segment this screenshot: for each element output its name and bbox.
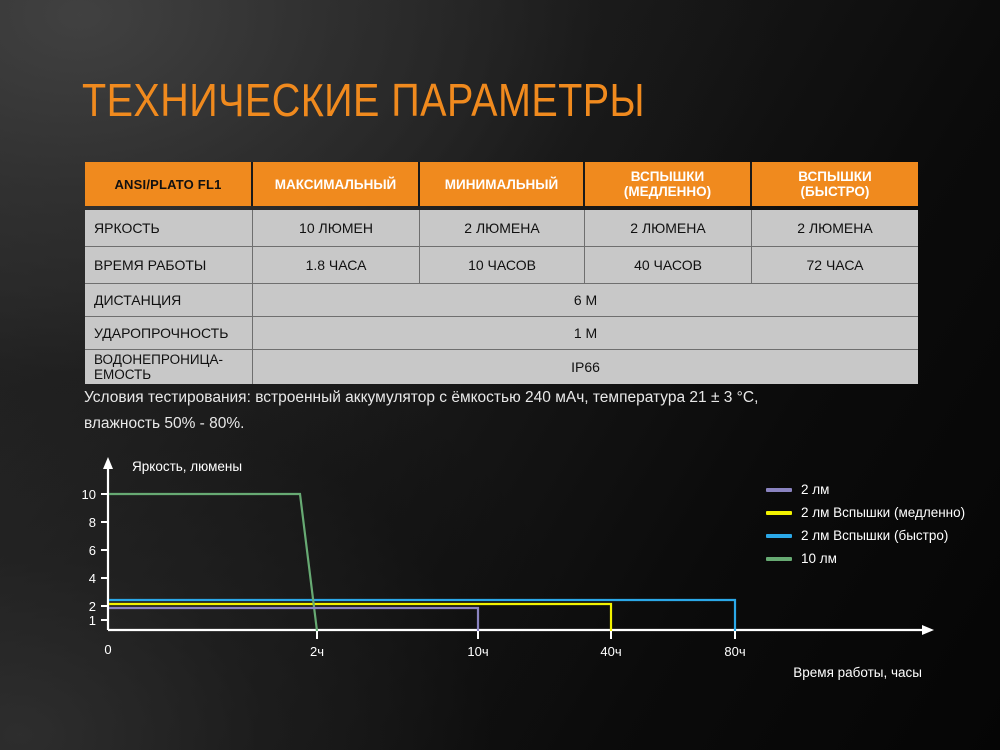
row-value: 72 ЧАСА <box>752 247 918 283</box>
y-tick-label: 6 <box>89 543 96 558</box>
table-row: УДАРОПРОЧНОСТЬ 1 М <box>85 317 918 350</box>
y-tick-label: 4 <box>89 571 96 586</box>
row-value: 2 ЛЮМЕНА <box>420 210 585 246</box>
y-tick-label: 2 <box>89 599 96 614</box>
y-tick-label: 10 <box>82 487 96 502</box>
y-tick-label: 1 <box>89 613 96 628</box>
legend-swatch-icon <box>766 534 792 538</box>
x-tick-label: 80ч <box>724 644 745 659</box>
row-merged-value: IP66 <box>253 350 918 384</box>
legend-swatch-icon <box>766 488 792 492</box>
series-line-10lm <box>109 494 317 631</box>
table-row: ДИСТАНЦИЯ 6 М <box>85 284 918 317</box>
row-label-line2: ЕМОСТЬ <box>94 367 223 382</box>
table-row: ВРЕМЯ РАБОТЫ 1.8 ЧАСА 10 ЧАСОВ 40 ЧАСОВ … <box>85 247 918 284</box>
chart-legend: 2 лм 2 лм Вспышки (медленно) 2 лм Вспышк… <box>766 478 991 570</box>
row-label: ВОДОНЕПРОНИЦА- ЕМОСТЬ <box>85 350 253 384</box>
page-title: ТЕХНИЧЕСКИЕ ПАРАМЕТРЫ <box>82 74 645 126</box>
table-row: ЯРКОСТЬ 10 ЛЮМЕН 2 ЛЮМЕНА 2 ЛЮМЕНА 2 ЛЮМ… <box>85 210 918 247</box>
table-header-label-line1: ВСПЫШКИ <box>798 169 871 184</box>
table-header-cell-min: МИНИМАЛЬНЫЙ <box>420 162 585 206</box>
y-tick-label: 8 <box>89 515 96 530</box>
table-header-label-line2: (БЫСТРО) <box>798 184 871 199</box>
series-line-2lm <box>109 608 478 631</box>
x-tick-label: 0 <box>104 642 111 657</box>
spec-table: ANSI/PLATO FL1 МАКСИМАЛЬНЫЙ МИНИМАЛЬНЫЙ … <box>85 162 918 384</box>
legend-swatch-icon <box>766 511 792 515</box>
row-value: 10 ЛЮМЕН <box>253 210 420 246</box>
table-header-cell-flash-slow: ВСПЫШКИ (МЕДЛЕННО) <box>585 162 752 206</box>
table-header-label-line2: (МЕДЛЕННО) <box>624 184 711 199</box>
note-line-2: влажность 50% - 80%. <box>84 411 934 437</box>
table-header-row: ANSI/PLATO FL1 МАКСИМАЛЬНЫЙ МИНИМАЛЬНЫЙ … <box>85 162 918 206</box>
x-tick-label: 10ч <box>467 644 488 659</box>
chart-x-ticks: 0 2ч 10ч 40ч 80ч <box>104 630 745 659</box>
legend-swatch-icon <box>766 557 792 561</box>
legend-item: 2 лм Вспышки (быстро) <box>766 524 991 547</box>
row-value: 2 ЛЮМЕНА <box>752 210 918 246</box>
row-label-line1: ВОДОНЕПРОНИЦА- <box>94 352 223 367</box>
table-header-label: ANSI/PLATO FL1 <box>114 177 221 192</box>
row-value: 40 ЧАСОВ <box>585 247 752 283</box>
legend-label: 2 лм Вспышки (медленно) <box>801 505 965 521</box>
chart-y-ticks: 1 2 4 6 8 10 <box>82 487 108 628</box>
table-header-cell-max: МАКСИМАЛЬНЫЙ <box>253 162 420 206</box>
legend-item: 10 лм <box>766 547 991 570</box>
legend-label: 10 лм <box>801 551 837 567</box>
chart-series <box>109 494 735 631</box>
test-conditions-note: Условия тестирования: встроенный аккумул… <box>84 385 934 437</box>
legend-label: 2 лм Вспышки (быстро) <box>801 528 948 544</box>
row-label: ВРЕМЯ РАБОТЫ <box>85 247 253 283</box>
table-header-cell-ansi: ANSI/PLATO FL1 <box>85 162 253 206</box>
legend-label: 2 лм <box>801 482 829 498</box>
row-label: УДАРОПРОЧНОСТЬ <box>85 317 253 349</box>
legend-item: 2 лм Вспышки (медленно) <box>766 501 991 524</box>
row-value: 10 ЧАСОВ <box>420 247 585 283</box>
note-line-1: Условия тестирования: встроенный аккумул… <box>84 385 934 411</box>
table-header-label: МИНИМАЛЬНЫЙ <box>445 177 558 192</box>
x-tick-label: 40ч <box>600 644 621 659</box>
row-merged-value: 1 М <box>253 317 918 349</box>
table-body: ЯРКОСТЬ 10 ЛЮМЕН 2 ЛЮМЕНА 2 ЛЮМЕНА 2 ЛЮМ… <box>85 210 918 384</box>
table-row: ВОДОНЕПРОНИЦА- ЕМОСТЬ IP66 <box>85 350 918 384</box>
x-tick-label: 2ч <box>310 644 324 659</box>
row-merged-value: 6 М <box>253 284 918 316</box>
row-value: 1.8 ЧАСА <box>253 247 420 283</box>
chart-x-axis-title: Время работы, часы <box>793 665 922 680</box>
legend-item: 2 лм <box>766 478 991 501</box>
table-header-cell-flash-fast: ВСПЫШКИ (БЫСТРО) <box>752 162 918 206</box>
slide-root: ТЕХНИЧЕСКИЕ ПАРАМЕТРЫ ANSI/PLATO FL1 МАК… <box>0 0 1000 750</box>
row-label: ЯРКОСТЬ <box>85 210 253 246</box>
row-value: 2 ЛЮМЕНА <box>585 210 752 246</box>
chart-y-axis-title: Яркость, люмены <box>132 459 242 474</box>
table-header-label: МАКСИМАЛЬНЫЙ <box>275 177 397 192</box>
table-header-label-line1: ВСПЫШКИ <box>624 169 711 184</box>
row-label: ДИСТАНЦИЯ <box>85 284 253 316</box>
